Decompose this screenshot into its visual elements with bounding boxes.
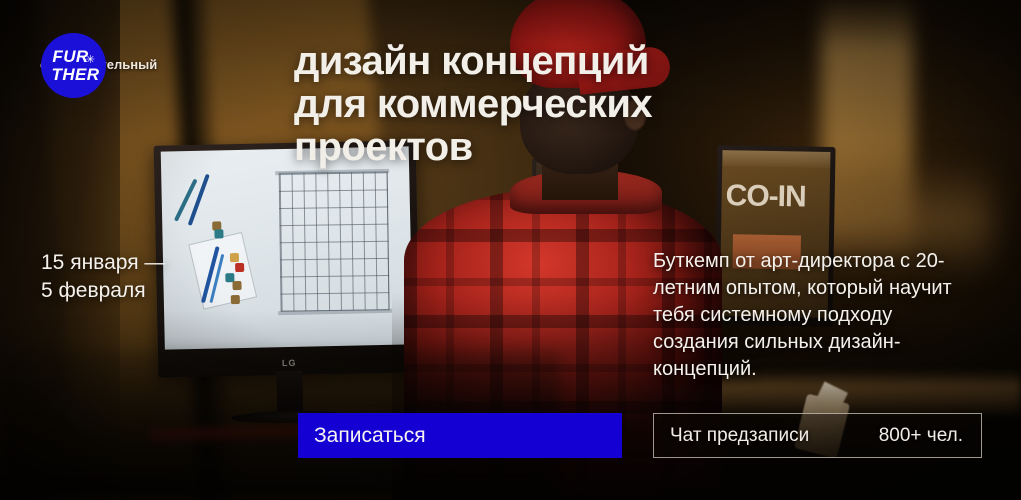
prechat-label: Чат предзаписи <box>670 425 809 447</box>
hero-content-layer: образовательный FUR THER ✳ дизайн концеп… <box>0 0 1021 500</box>
course-description: Буткемп от арт-директора с 20-летним опы… <box>653 248 983 383</box>
course-dates: 15 января — 5 февраля <box>41 249 165 305</box>
prechat-member-count: 800+ чел. <box>879 425 963 447</box>
page-title: дизайн концепций для коммерческих проект… <box>294 40 694 168</box>
brand-logo-line-1: FUR <box>52 48 88 66</box>
signup-button-label: Записаться <box>314 424 426 448</box>
hero-banner: FL AC CO-IN <box>0 0 1021 500</box>
prechat-link[interactable]: Чат предзаписи 800+ чел. <box>653 413 982 458</box>
asterisk-icon: ✳ <box>86 55 95 66</box>
brand-logo-line-2: THER <box>52 66 100 84</box>
brand-logo[interactable]: FUR THER ✳ <box>41 33 106 98</box>
signup-button[interactable]: Записаться <box>298 413 622 458</box>
